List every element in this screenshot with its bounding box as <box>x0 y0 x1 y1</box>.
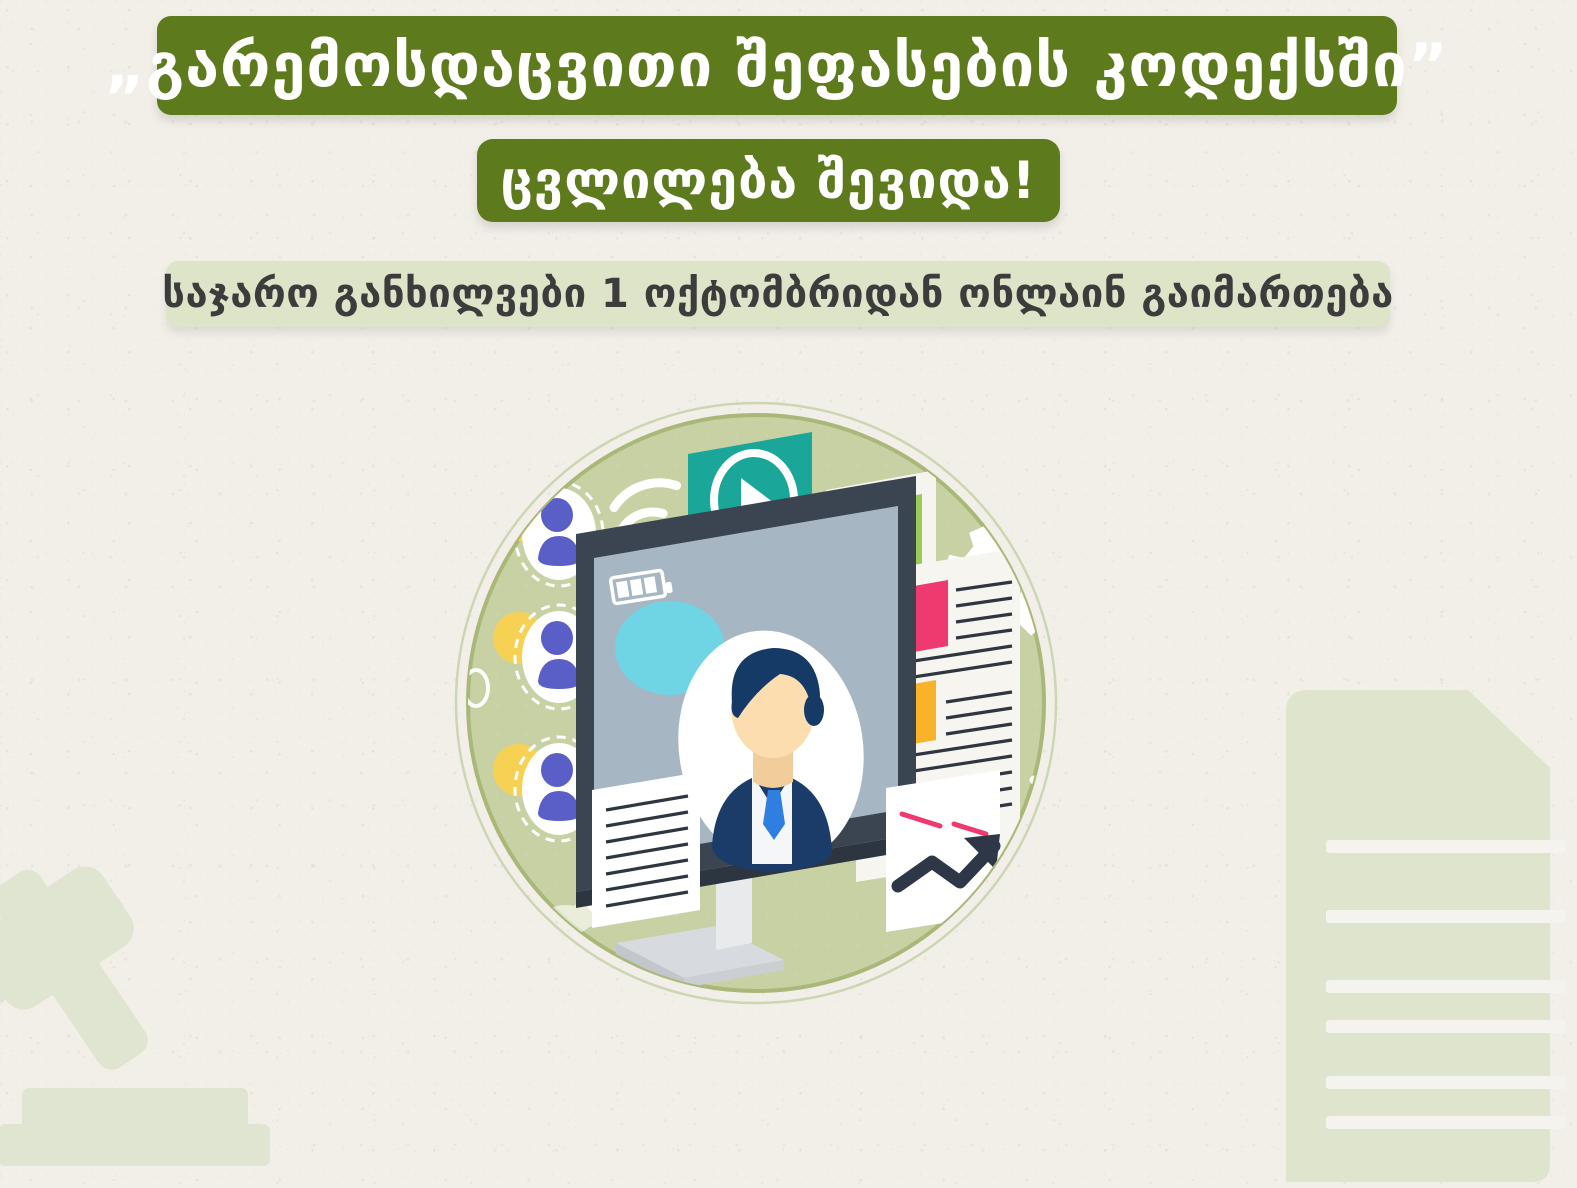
banner-subtitle: ცვლილება შევიდა! <box>477 139 1060 222</box>
banner-title: „გარემოსდაცვითი შეფასების კოდექსში” <box>157 16 1397 115</box>
banner-subtitle-text: ცვლილება შევიდა! <box>501 155 1037 207</box>
banner-note: საჯარო განხილვები 1 ოქტომბრიდან ონლაინ გ… <box>166 261 1390 327</box>
banner-note-text: საჯარო განხილვები 1 ოქტომბრიდან ონლაინ გ… <box>162 274 1394 314</box>
document-watermark <box>1258 672 1577 1182</box>
gavel-watermark <box>0 700 330 1170</box>
banner-title-text: „გარემოსდაცვითი შეფასების კოდექსში” <box>105 36 1449 96</box>
trend-arrow-card <box>886 770 1000 932</box>
poster-canvas: „გარემოსდაცვითი შეფასების კოდექსში” ცვლი… <box>0 0 1577 1188</box>
document-card-left <box>592 772 700 928</box>
online-public-hearing-illustration <box>416 358 1096 1048</box>
